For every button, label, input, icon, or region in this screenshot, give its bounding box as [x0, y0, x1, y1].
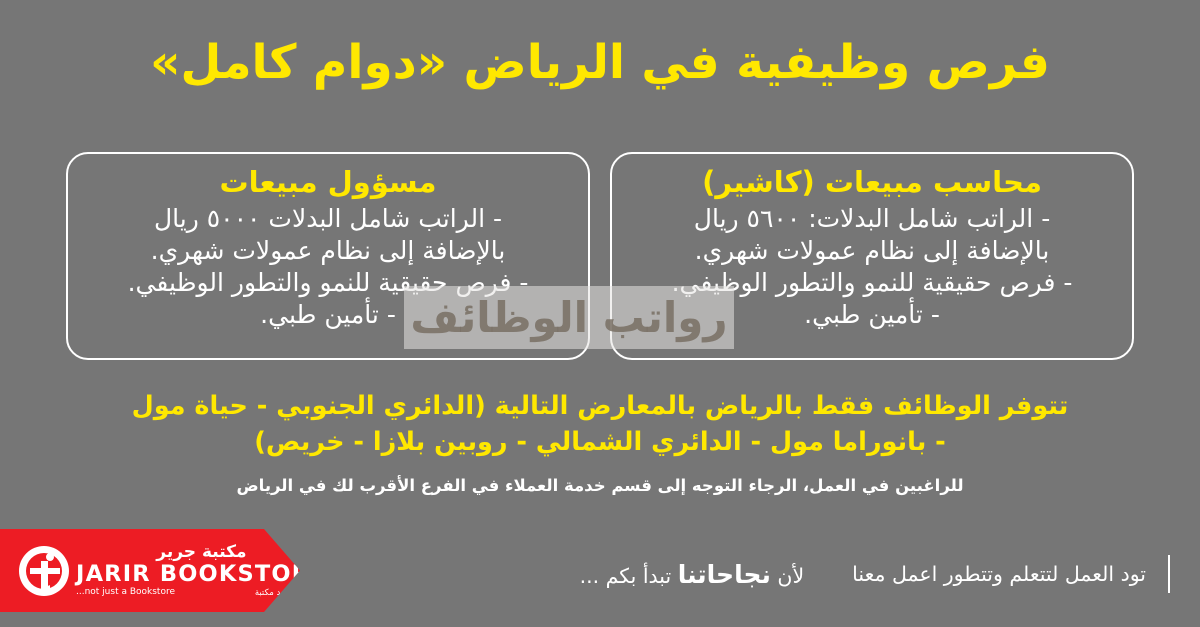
jarir-logo-slogans: ...not just a Bookstore ...ليست مجرد مكت… — [76, 588, 327, 597]
branches-line-1: تتوفر الوظائف فقط بالرياض بالمعارض التال… — [0, 388, 1200, 424]
jarir-logo-text: مكتبة جرير JARIR BOOKSTORE ...not just a… — [72, 544, 327, 598]
tagline-primary: تود العمل لتتعلم وتتطور اعمل معنا — [852, 562, 1146, 586]
jarir-logo-content: مكتبة جرير JARIR BOOKSTORE ...not just a… — [0, 529, 270, 612]
tagline-secondary-strong: نجاحاتنا — [678, 560, 771, 589]
footer-tagline: تود العمل لتتعلم وتتطور اعمل معنا لأن نج… — [310, 552, 1200, 596]
job-detail-salary: - الراتب شامل البدلات ٥٠٠٠ ريال — [84, 203, 572, 235]
jarir-logo-english-name: JARIR BOOKSTORE — [76, 563, 327, 586]
tagline-divider — [1168, 555, 1170, 593]
job-advertisement-poster: فرص وظيفية في الرياض «دوام كامل» محاسب م… — [0, 0, 1200, 627]
job-card-cashier-details: - الراتب شامل البدلات: ٥٦٠٠ ريال بالإضاف… — [628, 203, 1116, 331]
job-detail-growth: - فرص حقيقية للنمو والتطور الوظيفي. — [84, 267, 572, 299]
job-detail-growth: - فرص حقيقية للنمو والتطور الوظيفي. — [628, 267, 1116, 299]
jarir-slogan-english: ...not just a Bookstore — [76, 588, 175, 597]
tagline-secondary-suffix: تبدأ بكم ... — [580, 564, 678, 588]
branches-line-2: - بانوراما مول - الدائري الشمالي - روبين… — [0, 424, 1200, 460]
job-detail-salary: - الراتب شامل البدلات: ٥٦٠٠ ريال — [628, 203, 1116, 235]
job-card-cashier: محاسب مبيعات (كاشير) - الراتب شامل البدل… — [610, 152, 1134, 360]
jarir-logo-banner: مكتبة جرير JARIR BOOKSTORE ...not just a… — [0, 529, 300, 612]
jarir-circle-j-icon — [16, 543, 72, 599]
footer-bar: مكتبة جرير JARIR BOOKSTORE ...not just a… — [0, 524, 1200, 627]
job-cards-container: محاسب مبيعات (كاشير) - الراتب شامل البدل… — [0, 152, 1200, 364]
tagline-secondary-prefix: لأن — [771, 564, 804, 588]
job-card-sales-officer: مسؤول مبيعات - الراتب شامل البدلات ٥٠٠٠ … — [66, 152, 590, 360]
job-card-cashier-title: محاسب مبيعات (كاشير) — [628, 164, 1116, 202]
job-detail-commission: بالإضافة إلى نظام عمولات شهري. — [628, 235, 1116, 267]
application-instruction: للراغبين في العمل، الرجاء التوجه إلى قسم… — [0, 474, 1200, 497]
job-card-sales-officer-title: مسؤول مبيعات — [84, 164, 572, 202]
job-detail-insurance: - تأمين طبي. — [628, 299, 1116, 331]
job-detail-commission: بالإضافة إلى نظام عمولات شهري. — [84, 235, 572, 267]
job-detail-insurance: - تأمين طبي. — [84, 299, 572, 331]
job-card-sales-officer-details: - الراتب شامل البدلات ٥٠٠٠ ريال بالإضافة… — [84, 203, 572, 331]
branches-notice: تتوفر الوظائف فقط بالرياض بالمعارض التال… — [0, 388, 1200, 460]
page-title: فرص وظيفية في الرياض «دوام كامل» — [0, 34, 1200, 93]
jarir-logo-arabic-name: مكتبة جرير — [76, 544, 327, 561]
tagline-secondary: لأن نجاحاتنا تبدأ بكم ... — [580, 560, 805, 589]
